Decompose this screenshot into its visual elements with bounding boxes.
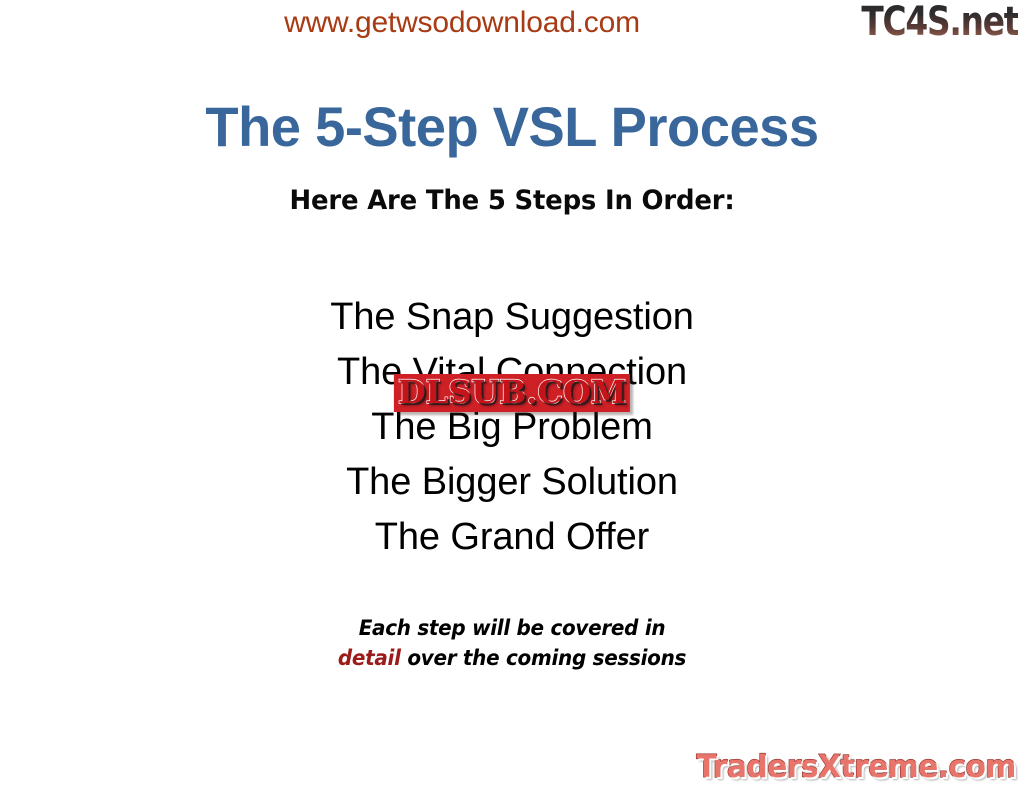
dlsub-watermark: DLSUB.COM (394, 374, 630, 412)
footnote-line-2-rest: over the coming sessions (401, 646, 686, 670)
list-item: The Snap Suggestion (0, 290, 1024, 345)
footnote-accent-word: detail (338, 646, 401, 670)
footnote-line-1: Each step will be covered in (26, 613, 999, 643)
footnote-line-2: detail over the coming sessions (26, 643, 999, 673)
list-item: The Bigger Solution (0, 455, 1024, 510)
page-subtitle: Here Are The 5 Steps In Order: (20, 185, 1003, 216)
tradersxtreme-logo-watermark: TradersXtreme.com (696, 749, 1016, 785)
steps-list: The Snap Suggestion The Vital Connection… (0, 290, 1024, 565)
tc4s-logo-watermark: TC4S.net (861, 1, 1018, 43)
page-title: The 5-Step VSL Process (15, 94, 1008, 159)
footnote: Each step will be covered in detail over… (26, 613, 999, 673)
slide-canvas: www.getwsodownload.com TC4S.net The 5-St… (0, 0, 1024, 791)
list-item: The Grand Offer (0, 510, 1024, 565)
